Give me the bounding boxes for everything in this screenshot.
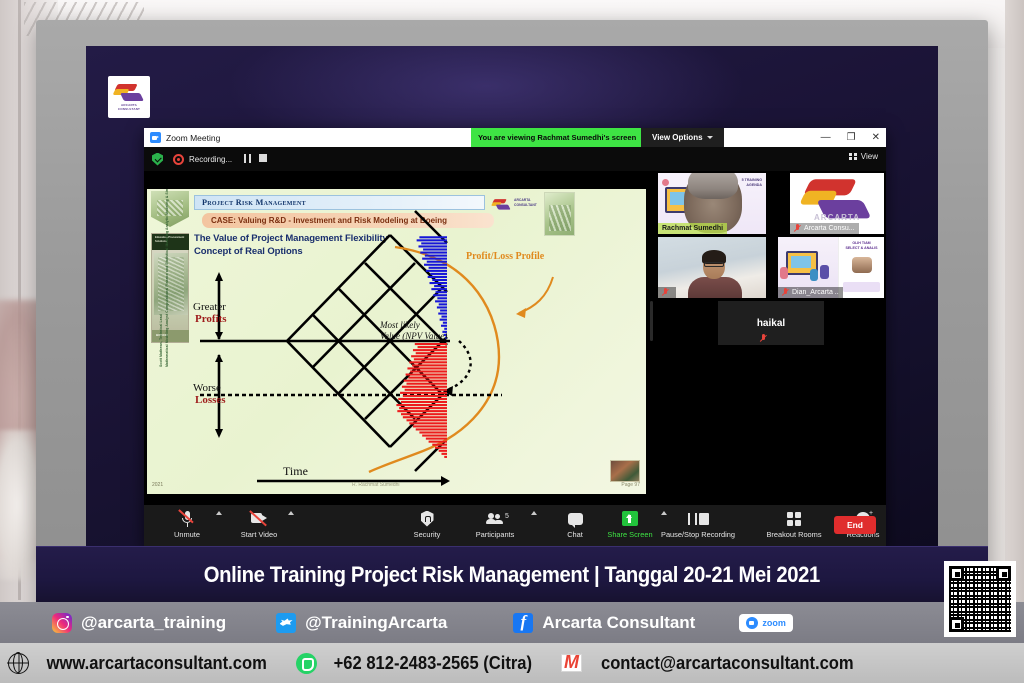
- facebook-handle: Arcarta Consultant: [542, 613, 695, 633]
- pause-stop-icon: [688, 509, 709, 528]
- monitor-screen: ARCARTA CONSULTANT Zoom Meeting You are …: [86, 46, 938, 592]
- training-title-banner: Online Training Project Risk Management …: [36, 546, 988, 602]
- social-zoom[interactable]: zoom: [739, 614, 793, 632]
- view-label: View: [861, 152, 878, 161]
- chat-bubble-icon: [568, 509, 583, 528]
- audio-options-caret-icon[interactable]: [216, 511, 222, 515]
- qr-code: [949, 566, 1011, 632]
- pause-stop-recording-button[interactable]: Pause/Stop Recording: [640, 509, 756, 539]
- zoom-titlebar: Zoom Meeting You are viewing Rachmat Sum…: [144, 128, 886, 147]
- breakout-rooms-button[interactable]: Breakout Rooms: [754, 509, 834, 539]
- slide-footer-photo: [610, 460, 640, 482]
- recording-label: Recording...: [189, 155, 232, 164]
- start-video-label: Start Video: [241, 530, 277, 539]
- chart-time-axis-label: Time: [283, 464, 308, 479]
- zoom-app-icon: [150, 132, 161, 143]
- globe-icon: [8, 653, 29, 674]
- start-video-button[interactable]: Start Video: [228, 509, 290, 539]
- mic-muted-icon: [662, 288, 669, 297]
- zoom-label: zoom: [762, 618, 786, 628]
- participant-tile-webcam[interactable]: [658, 237, 766, 298]
- screen-share-banner: You are viewing Rachmat Sumedhi's screen: [471, 128, 643, 147]
- view-layout-button[interactable]: View: [849, 152, 878, 161]
- participant-name: Rachmat Sumedhi: [658, 223, 727, 234]
- view-options-label: View Options: [652, 133, 703, 142]
- twitter-icon: [276, 613, 296, 633]
- zoom-icon: [746, 617, 758, 629]
- pause-icon: [244, 154, 251, 163]
- social-twitter[interactable]: @TrainingArcarta: [276, 613, 447, 633]
- recording-indicator-icon: [173, 154, 184, 165]
- contact-website[interactable]: www.arcartaconsultant.com: [8, 653, 276, 674]
- zoom-topbar: Recording... View: [144, 147, 886, 171]
- slide-footer-author: R. Rachmat Sumedhi: [352, 482, 400, 488]
- mic-muted-icon: [794, 224, 801, 233]
- participant-tile-dian-arcarta[interactable]: OLIH TIAMSELECT & ANALIS Dian_Arcarta ..: [778, 237, 884, 298]
- zoom-meeting-window: Zoom Meeting You are viewing Rachmat Sum…: [144, 128, 886, 548]
- stop-recording-button[interactable]: [259, 154, 267, 164]
- contact-email[interactable]: contact@arcartaconsultant.com: [561, 653, 865, 674]
- microphone-muted-icon: [181, 509, 194, 528]
- participants-label: Participants: [476, 530, 515, 539]
- breakout-rooms-label: Breakout Rooms: [766, 530, 821, 539]
- close-button[interactable]: ✕: [872, 133, 880, 143]
- participant-name-row: [658, 287, 676, 298]
- participant-tile-haikal[interactable]: haikal: [718, 301, 824, 345]
- pause-stop-recording-label: Pause/Stop Recording: [661, 530, 735, 539]
- unmute-button[interactable]: Unmute: [156, 509, 218, 539]
- participant-name-row: Dian_Arcarta ..: [778, 287, 843, 298]
- contact-bar: www.arcartaconsultant.com +62 812-2483-2…: [0, 643, 1024, 683]
- website-text: www.arcartaconsultant.com: [47, 653, 267, 674]
- participants-caret-icon[interactable]: [531, 511, 537, 515]
- arcarta-watermark: ARCARTA: [790, 213, 884, 222]
- facebook-icon: [513, 613, 533, 633]
- maximize-button[interactable]: ❐: [847, 133, 856, 143]
- whatsapp-icon: [296, 653, 317, 674]
- participant-name: Arcarta Consu...: [804, 225, 855, 232]
- chart-npv-annotation-line2: Value (NPV Value): [380, 331, 447, 341]
- participant-name: haikal: [718, 301, 824, 345]
- participants-count: 5: [505, 513, 509, 520]
- social-facebook[interactable]: Arcarta Consultant: [513, 613, 695, 633]
- pause-recording-button[interactable]: [244, 154, 251, 165]
- twitter-handle: @TrainingArcarta: [305, 613, 447, 633]
- participant-tiles: 5 TRAININGAGENDA Rachmat Sumedhi ARCARTA…: [656, 171, 886, 505]
- shield-icon: [421, 509, 434, 528]
- participant-name: Dian_Arcarta ..: [792, 289, 839, 296]
- email-text: contact@arcartaconsultant.com: [601, 653, 854, 674]
- window-buttons: — ❐ ✕: [821, 128, 880, 147]
- security-label: Security: [414, 530, 441, 539]
- minimize-button[interactable]: —: [821, 133, 831, 143]
- grid-icon: [849, 153, 857, 161]
- chart-greater-label: Greater: [193, 301, 226, 313]
- window-title: Zoom Meeting: [166, 133, 220, 143]
- gmail-icon: [561, 654, 582, 672]
- stop-icon: [259, 154, 267, 162]
- instagram-handle: @arcarta_training: [81, 613, 226, 633]
- mic-muted-icon: [760, 334, 767, 343]
- people-icon: 5: [486, 509, 504, 528]
- slide-footer-page: Page 97: [621, 482, 640, 488]
- zoom-stage: Education Procurement Solutions BOEING S…: [144, 171, 886, 505]
- participant-tile-rachmat-sumedhi[interactable]: 5 TRAININGAGENDA Rachmat Sumedhi: [658, 173, 766, 234]
- chart-npv-annotation-line1: Most likely: [380, 320, 420, 330]
- screen-share-banner-text: You are viewing Rachmat Sumedhi's screen: [478, 133, 636, 142]
- arcarta-logo-icon: ARCARTA CONSULTANT: [108, 76, 150, 118]
- monitor-bezel: ARCARTA CONSULTANT Zoom Meeting You are …: [36, 20, 988, 620]
- end-meeting-button[interactable]: End: [834, 516, 876, 534]
- chart-profits-label: Profits: [195, 313, 227, 325]
- participant-name-row: Arcarta Consu...: [790, 223, 859, 234]
- slide-footer-year: 2021: [152, 482, 163, 488]
- desktop-logo-line2: CONSULTANT: [118, 108, 140, 112]
- view-options-button[interactable]: View Options: [641, 128, 724, 147]
- chart-worse-label: Worse: [193, 382, 221, 394]
- chat-label: Chat: [567, 530, 583, 539]
- training-title: Online Training Project Risk Management …: [204, 562, 820, 588]
- stage-divider-handle[interactable]: [650, 301, 653, 341]
- security-shield-icon[interactable]: [152, 153, 163, 166]
- slide-footer: 2021 R. Rachmat Sumedhi Page 97: [147, 482, 646, 492]
- mic-muted-icon: [782, 288, 789, 297]
- qr-code-box[interactable]: [944, 561, 1016, 637]
- chat-button[interactable]: Chat: [544, 509, 606, 539]
- breakout-rooms-icon: [787, 509, 801, 528]
- chart-npv-annotation: Most likely Value (NPV Value): [380, 320, 486, 343]
- whatsapp-text: +62 812-2483-2565 (Citra): [334, 653, 532, 674]
- camera-off-icon: [251, 509, 268, 528]
- chart-profitloss-label: Profit/Loss Profile: [466, 251, 544, 262]
- zoom-badge: zoom: [739, 614, 793, 632]
- participants-button[interactable]: 5 Participants: [464, 509, 526, 539]
- chevron-down-icon: [707, 136, 713, 139]
- instagram-icon: [52, 613, 72, 633]
- contact-whatsapp[interactable]: +62 812-2483-2565 (Citra): [296, 653, 541, 674]
- desktop: ARCARTA CONSULTANT Zoom Meeting You are …: [86, 46, 938, 592]
- social-media-bar: @arcarta_training @TrainingArcarta Arcar…: [0, 602, 1024, 643]
- chart-losses-label: Losses: [195, 394, 226, 406]
- security-button[interactable]: Security: [396, 509, 458, 539]
- video-options-caret-icon[interactable]: [288, 511, 294, 515]
- unmute-label: Unmute: [174, 530, 200, 539]
- zoom-control-bar: Unmute Start Video Security: [144, 505, 886, 548]
- share-screen-icon: [622, 509, 638, 528]
- social-instagram[interactable]: @arcarta_training: [52, 613, 226, 633]
- shared-screen-slide: Education Procurement Solutions BOEING S…: [147, 189, 646, 494]
- loss-bars: [396, 343, 447, 458]
- participant-tile-arcarta-consultant[interactable]: ARCARTA Arcarta Consu...: [790, 173, 884, 234]
